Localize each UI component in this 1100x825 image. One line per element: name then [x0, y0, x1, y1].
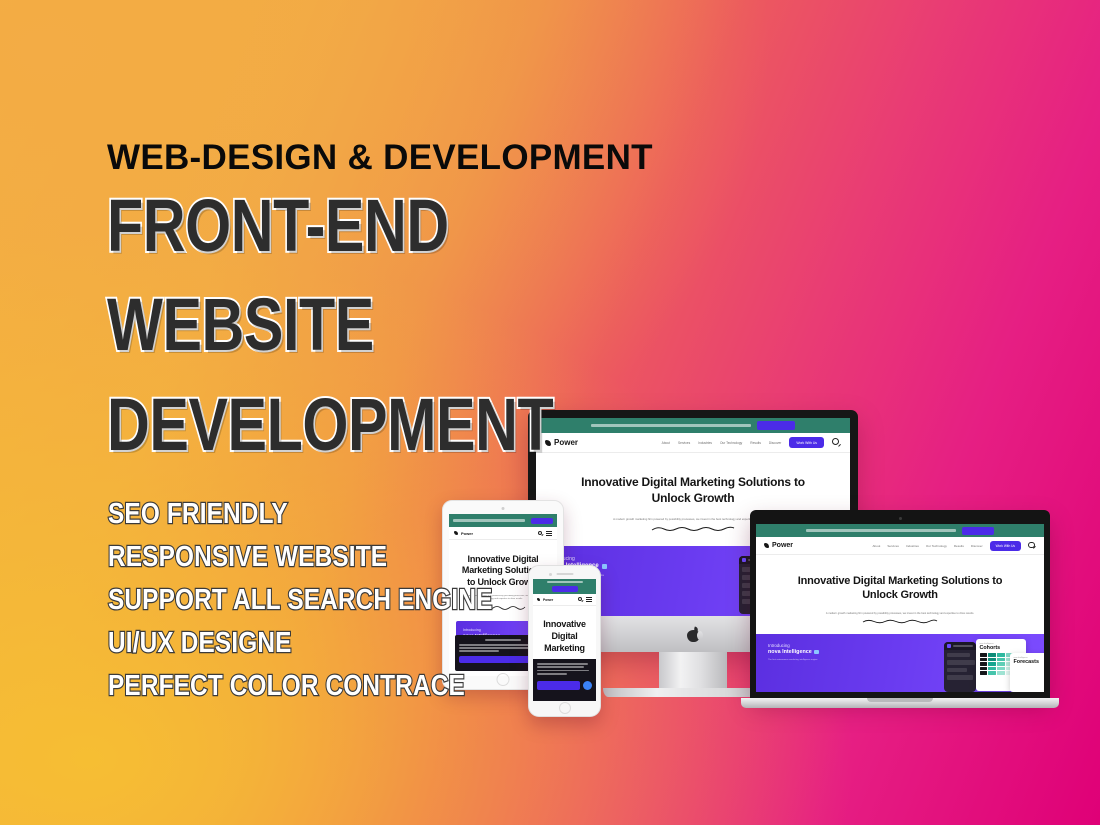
- nav-link-about[interactable]: About: [873, 544, 881, 548]
- feature-item-seo: SEO FRIENDLY: [108, 500, 545, 529]
- headline-line-1: FRONT-END: [107, 189, 619, 262]
- feature-item-contrast: PERFECT COLOR CONTRACE: [108, 672, 545, 701]
- macbook-forecasts-card: nova Intelligence Forecasts: [1010, 653, 1044, 692]
- nav-link-discover[interactable]: Discover: [769, 441, 781, 445]
- macbook-promo-title: nova Intelligence: [768, 649, 812, 655]
- headline-line-3: DEVELOPMENT: [107, 388, 619, 461]
- nav-link-results[interactable]: Results: [954, 544, 964, 548]
- macbook-announcement-text: Introducing our next generation marketin…: [806, 529, 956, 532]
- macbook-search-icon[interactable]: [1028, 542, 1036, 550]
- main-headline: FRONT-END WEBSITE DEVELOPMENT: [107, 189, 747, 461]
- feature-item-search: SUPPORT ALL SEARCH ENGINE: [108, 586, 545, 615]
- macbook-announcement-button[interactable]: Learn More: [962, 527, 994, 535]
- imac-nav-cta-button[interactable]: Work With Us: [789, 437, 824, 448]
- headline-block: WEB-DESIGN & DEVELOPMENT FRONT-END WEBSI…: [107, 140, 747, 461]
- imac-stand-neck: [659, 652, 727, 688]
- macbook-app-preview-card: [944, 642, 976, 692]
- headline-line-2: WEBSITE: [107, 288, 619, 361]
- nav-link-services[interactable]: Services: [887, 544, 899, 548]
- phone-home-button[interactable]: [559, 702, 571, 714]
- macbook-site-logo-text[interactable]: Power: [772, 542, 793, 549]
- forecasts-card-title: Forecasts: [1014, 659, 1045, 665]
- macbook-notch: [867, 698, 933, 702]
- cohorts-card-title: Cohorts: [980, 645, 1023, 651]
- nav-link-discover[interactable]: Discover: [971, 544, 983, 548]
- macbook-nav-cta-button[interactable]: Work With Us: [990, 541, 1021, 551]
- feature-item-uiux: UI/UX DESIGNE: [108, 629, 545, 658]
- macbook-hero-title: Innovative Digital Marketing Solutions t…: [780, 574, 1020, 603]
- beta-badge: [814, 650, 819, 655]
- site-logo-icon: [764, 543, 769, 548]
- macbook-camera-icon: [899, 517, 902, 520]
- macbook-hero-subtitle: A modern growth marketing firm powered b…: [780, 612, 1020, 615]
- imac-announcement-button[interactable]: Learn More: [757, 421, 795, 430]
- device-macbook: Introducing our next generation marketin…: [750, 510, 1050, 708]
- nav-link-industries[interactable]: Industries: [906, 544, 919, 548]
- macbook-base: [741, 698, 1059, 708]
- macbook-screen: Introducing our next generation marketin…: [756, 524, 1044, 692]
- poster-canvas: WEB-DESIGN & DEVELOPMENT FRONT-END WEBSI…: [0, 0, 1100, 825]
- imac-search-icon[interactable]: [832, 438, 841, 447]
- apple-logo-icon: [687, 627, 700, 642]
- feature-list: SEO FRIENDLY RESPONSIVE WEBSITE SUPPORT …: [108, 500, 628, 701]
- eyebrow-text: WEB-DESIGN & DEVELOPMENT: [107, 140, 747, 175]
- nav-link-results[interactable]: Results: [750, 441, 761, 445]
- squiggle-decoration: [650, 525, 736, 533]
- squiggle-decoration: [861, 618, 939, 625]
- nav-link-technology[interactable]: Our Technology: [926, 544, 947, 548]
- feature-item-responsive: RESPONSIVE WEBSITE: [108, 543, 545, 572]
